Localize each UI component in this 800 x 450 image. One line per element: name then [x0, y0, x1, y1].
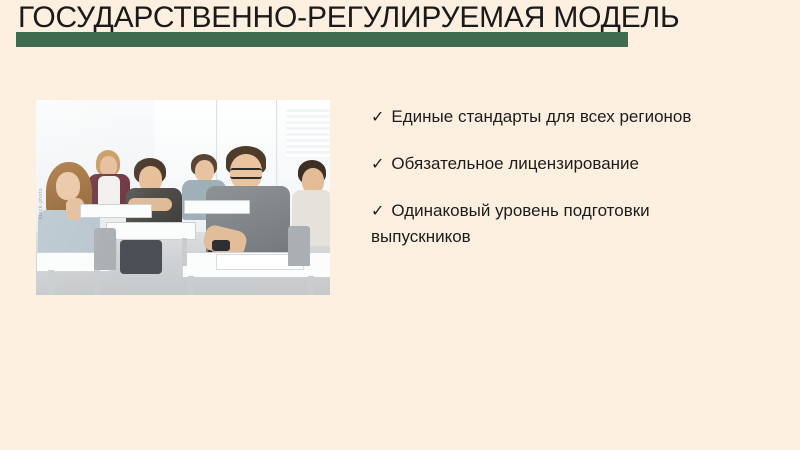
title-underline-bar — [16, 32, 628, 47]
list-item: ✓Обязательное лицензирование — [371, 151, 701, 177]
checkmark-icon: ✓ — [371, 105, 384, 130]
page-title: ГОСУДАРСТВЕННО-РЕГУЛИРУЕМАЯ МОДЕЛЬ — [18, 1, 680, 35]
slide: ГОСУДАРСТВЕННО-РЕГУЛИРУЕМАЯ МОДЕЛЬ — [0, 0, 800, 450]
checkmark-icon: ✓ — [371, 152, 384, 177]
bullet-text: Одинаковый уровень подготовки выпускнико… — [371, 201, 650, 246]
list-item: ✓Единые стандарты для всех регионов — [371, 104, 701, 130]
bullet-text: Обязательное лицензирование — [391, 154, 639, 173]
bullet-list: ✓Единые стандарты для всех регионов ✓Обя… — [371, 104, 701, 249]
checkmark-icon: ✓ — [371, 199, 384, 224]
photo-light-sheen — [36, 100, 330, 295]
bullet-text: Единые стандарты для всех регионов — [391, 107, 691, 126]
classroom-photo: stock-photo — [36, 100, 330, 295]
list-item: ✓Одинаковый уровень подготовки выпускник… — [371, 198, 701, 249]
